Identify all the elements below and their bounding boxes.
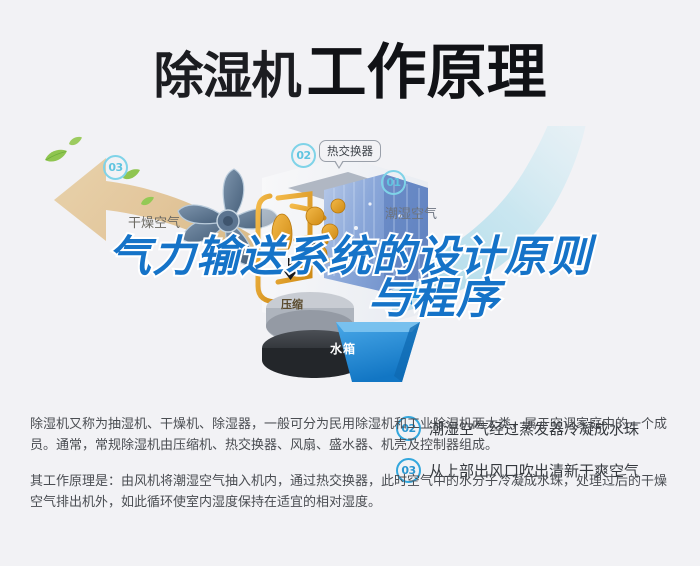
dehumidifier-diagram: 03 02 01 热交换器 干燥空气 潮湿空气 压缩 水箱 02 潮湿空气经过蒸… [0, 118, 700, 398]
leaf-icon [140, 196, 155, 207]
page-title: 除湿机工作原理 [0, 24, 700, 111]
callout-tail-icon [334, 161, 344, 169]
leaf-icon [68, 136, 83, 147]
label-water-tank: 水箱 [330, 340, 356, 357]
label-dry-air: 干燥空气 [128, 212, 180, 231]
diagram-badge-01: 01 [381, 170, 406, 195]
body-paragraph-1: 除湿机又称为抽湿机、干燥机、除湿器，一般可分为民用除湿机和工业除湿机两大类，属于… [30, 414, 675, 456]
page-title-part2: 工作原理 [307, 38, 547, 108]
body-copy: 除湿机又称为抽湿机、干燥机、除湿器，一般可分为民用除湿机和工业除湿机两大类，属于… [30, 414, 675, 513]
body-paragraph-2: 其工作原理是：由风机将潮湿空气抽入机内，通过热交换器，此时空气中的水分子冷凝成水… [30, 471, 675, 513]
leaf-icon [44, 148, 68, 164]
callout-heat-exchanger: 热交换器 [319, 140, 381, 162]
diagram-badge-02: 02 [291, 143, 316, 168]
callout-heat-exchanger-label: 热交换器 [327, 144, 373, 158]
page-title-part1: 除湿机 [154, 47, 301, 105]
label-moist-air: 潮湿空气 [385, 203, 437, 222]
label-compressor: 压缩 [281, 296, 303, 312]
poster-root: 除湿机工作原理 [0, 0, 700, 566]
diagram-badge-03: 03 [103, 155, 128, 180]
